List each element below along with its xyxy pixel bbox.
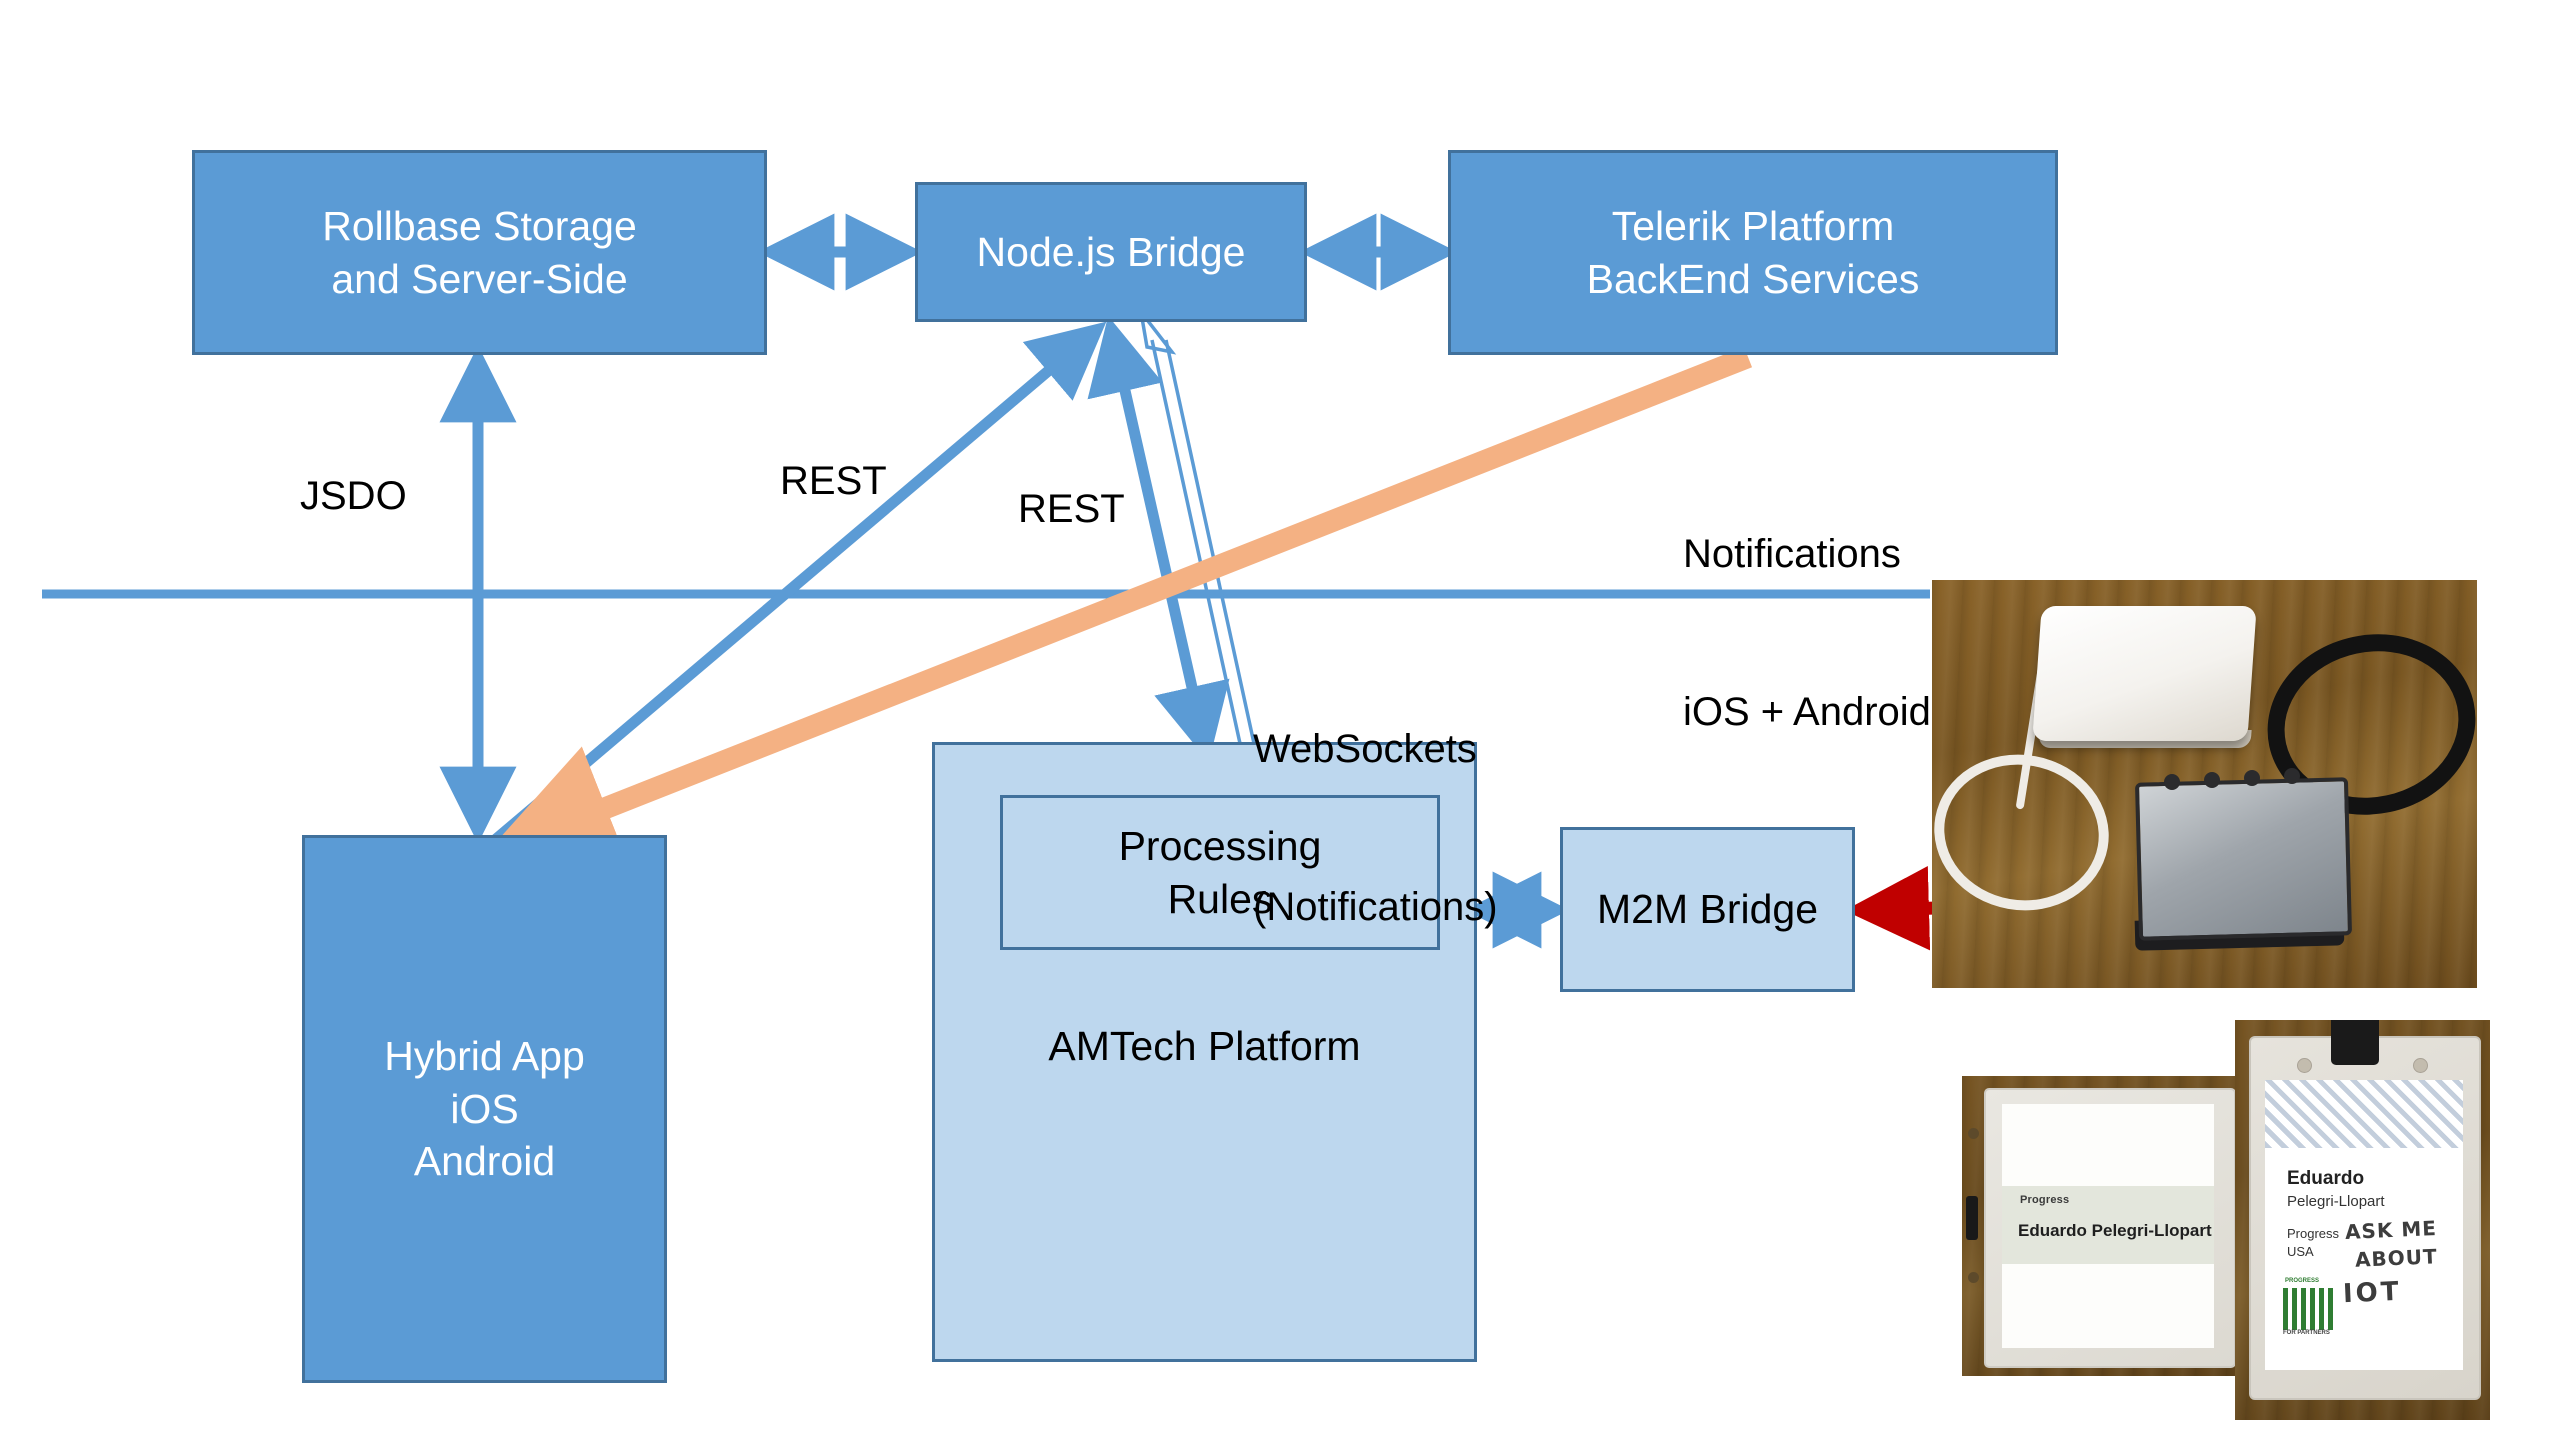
connector-rest-amtech-nodejs [1112, 333, 1205, 745]
conference-badge-photo-front: Eduardo Pelegri-Llopart Progress USA ASK… [2235, 1020, 2490, 1420]
logo-top-text: PROGRESS [2285, 1278, 2319, 1284]
reader-port-icon [2164, 774, 2180, 790]
badge-company-text: Progress [2020, 1194, 2069, 1206]
node-hybrid-app[interactable]: Hybrid App iOS Android [302, 835, 667, 1383]
badge-handwriting-line: ABOUT [2355, 1244, 2439, 1272]
connector-label-websockets: WebSockets (Notifications) [1253, 617, 1498, 1039]
node-label-line: Android [414, 1135, 555, 1187]
node-telerik-platform[interactable]: Telerik Platform BackEnd Services [1448, 150, 2058, 355]
logo-bottom-text: FOR PARTNERS [2283, 1330, 2330, 1336]
badge-company-text: Progress [2287, 1226, 2339, 1241]
node-rollbase-storage[interactable]: Rollbase Storage and Server-Side [192, 150, 767, 355]
reader-port-icon [2284, 768, 2300, 784]
connector-label-notifications: Notifications iOS + Android [1683, 422, 1931, 844]
node-label-line: Hybrid App [384, 1030, 585, 1082]
badge-name-text: Eduardo Pelegri-Llopart [2018, 1221, 2212, 1241]
connector-label-jsdo: JSDO [300, 470, 407, 523]
connector-label-line: (Notifications) [1253, 881, 1498, 934]
node-label-line: Node.js Bridge [977, 226, 1246, 278]
table-hole-icon [1968, 1272, 1979, 1283]
connector-label-rest-amtech: REST [1018, 483, 1125, 536]
conference-badge-photo-back: Progress Eduardo Pelegri-Llopart [1962, 1076, 2252, 1376]
reader-port-icon [2204, 772, 2220, 788]
connector-label-line: iOS + Android [1683, 686, 1931, 739]
connector-label-line: Notifications [1683, 528, 1931, 581]
badge-handwriting-line: IOT [2342, 1277, 2402, 1310]
badge-handwriting-line: ASK ME [2345, 1216, 2438, 1244]
badge-hole-icon [2413, 1058, 2428, 1073]
node-label-line: iOS [450, 1083, 518, 1135]
progress-next-logo-icon: PROGRESS FOR PARTNERS [2283, 1278, 2337, 1340]
rfid-hardware-photo [1932, 580, 2477, 988]
node-nodejs-bridge[interactable]: Node.js Bridge [915, 182, 1307, 322]
node-label-line: Rollbase Storage [322, 200, 637, 252]
reader-port-icon [2244, 770, 2260, 786]
rfid-reader-icon [2135, 777, 2352, 941]
node-label-line: and Server-Side [331, 253, 627, 305]
node-m2m-bridge[interactable]: M2M Bridge [1560, 827, 1855, 992]
badge-clip-icon [2331, 1020, 2379, 1065]
rfid-panel-antenna-icon [2032, 606, 2256, 741]
badge-first-name-text: Eduardo [2287, 1168, 2364, 1190]
badge-last-name-text: Pelegri-Llopart [2287, 1193, 2385, 1210]
table-hole-icon [1968, 1128, 1979, 1139]
connector-label-line: WebSockets [1253, 723, 1498, 776]
node-label-line: BackEnd Services [1587, 253, 1920, 305]
logo-mark-icon [2283, 1288, 2337, 1330]
badge-hole-icon [2297, 1058, 2312, 1073]
node-label-line: M2M Bridge [1597, 883, 1818, 935]
badge-clip-icon [1966, 1196, 1978, 1240]
node-label-line: Telerik Platform [1612, 200, 1895, 252]
diagram-canvas: Rollbase Storage and Server-Side Node.js… [0, 0, 2560, 1440]
badge-country-text: USA [2287, 1244, 2314, 1259]
badge-pattern-icon [2265, 1080, 2463, 1148]
connector-websockets [1141, 312, 1255, 748]
connector-label-rest-hybrid: REST [780, 455, 887, 508]
